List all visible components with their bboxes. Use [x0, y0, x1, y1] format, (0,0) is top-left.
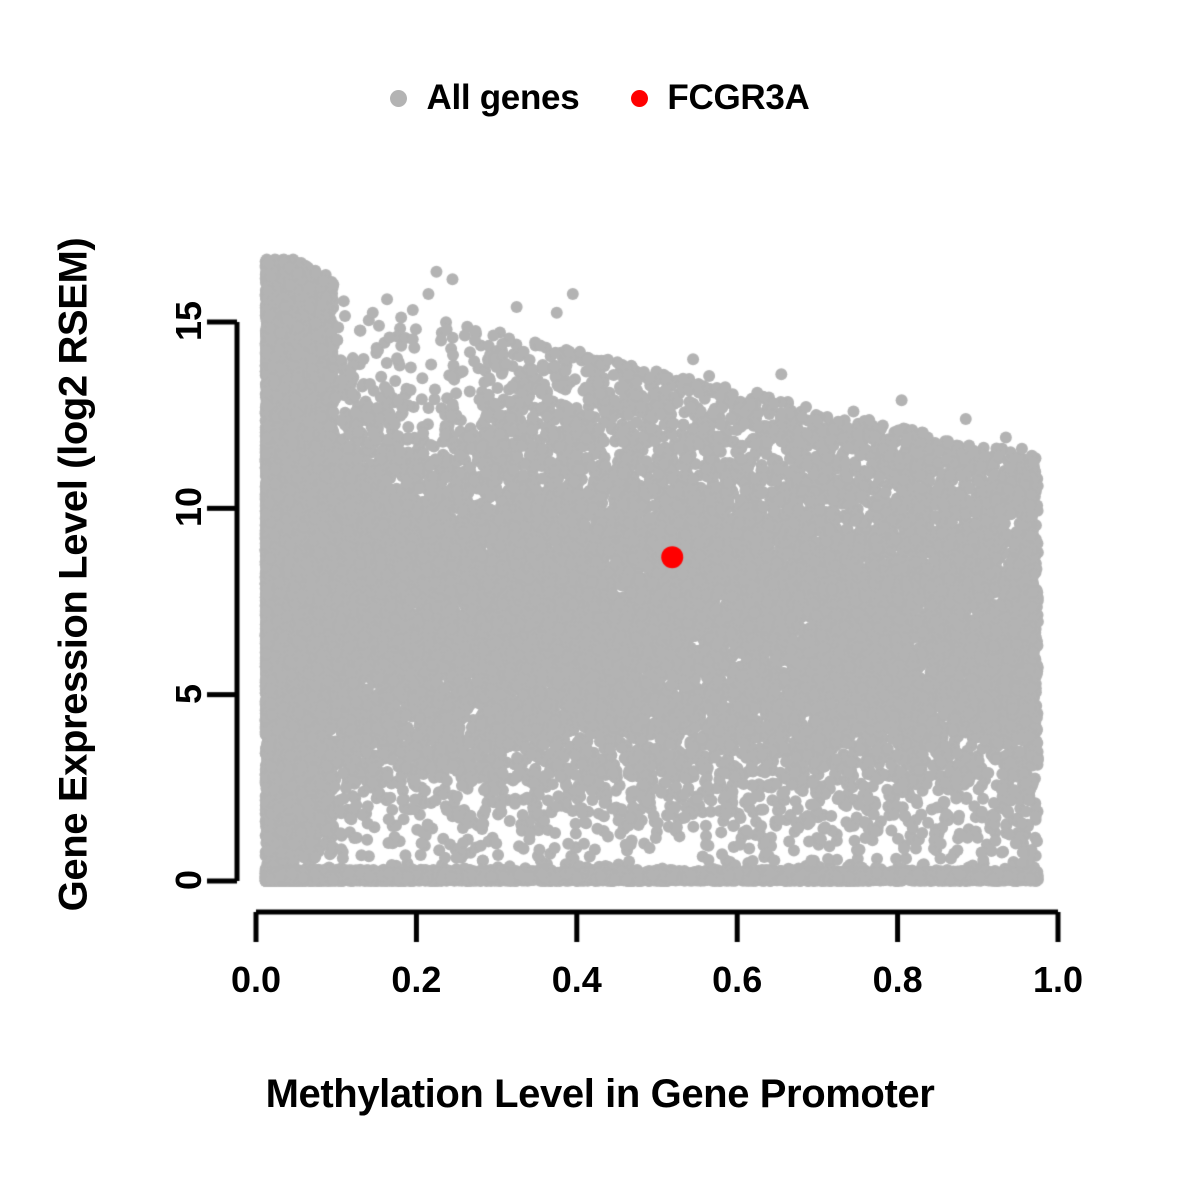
x-axis-label: Methylation Level in Gene Promoter [0, 1072, 1200, 1117]
y-tick-label: 0 [168, 850, 210, 910]
scatter-canvas [0, 0, 1200, 1200]
y-tick-label: 15 [168, 291, 210, 351]
y-tick-label: 5 [168, 664, 210, 724]
y-axis-label: Gene Expression Level (log2 RSEM) [52, 145, 97, 1005]
x-tick-label: 0.4 [552, 959, 602, 1001]
x-tick-label: 0.2 [391, 959, 441, 1001]
x-tick-label: 0.8 [873, 959, 923, 1001]
x-tick-label: 0.6 [712, 959, 762, 1001]
scatter-plot-figure: All genes FCGR3A 0.00.20.40.60.81.005101… [0, 0, 1200, 1200]
plot-area [0, 0, 1200, 1200]
x-tick-label: 0.0 [231, 959, 281, 1001]
y-tick-label: 10 [168, 477, 210, 537]
x-tick-label: 1.0 [1033, 959, 1083, 1001]
